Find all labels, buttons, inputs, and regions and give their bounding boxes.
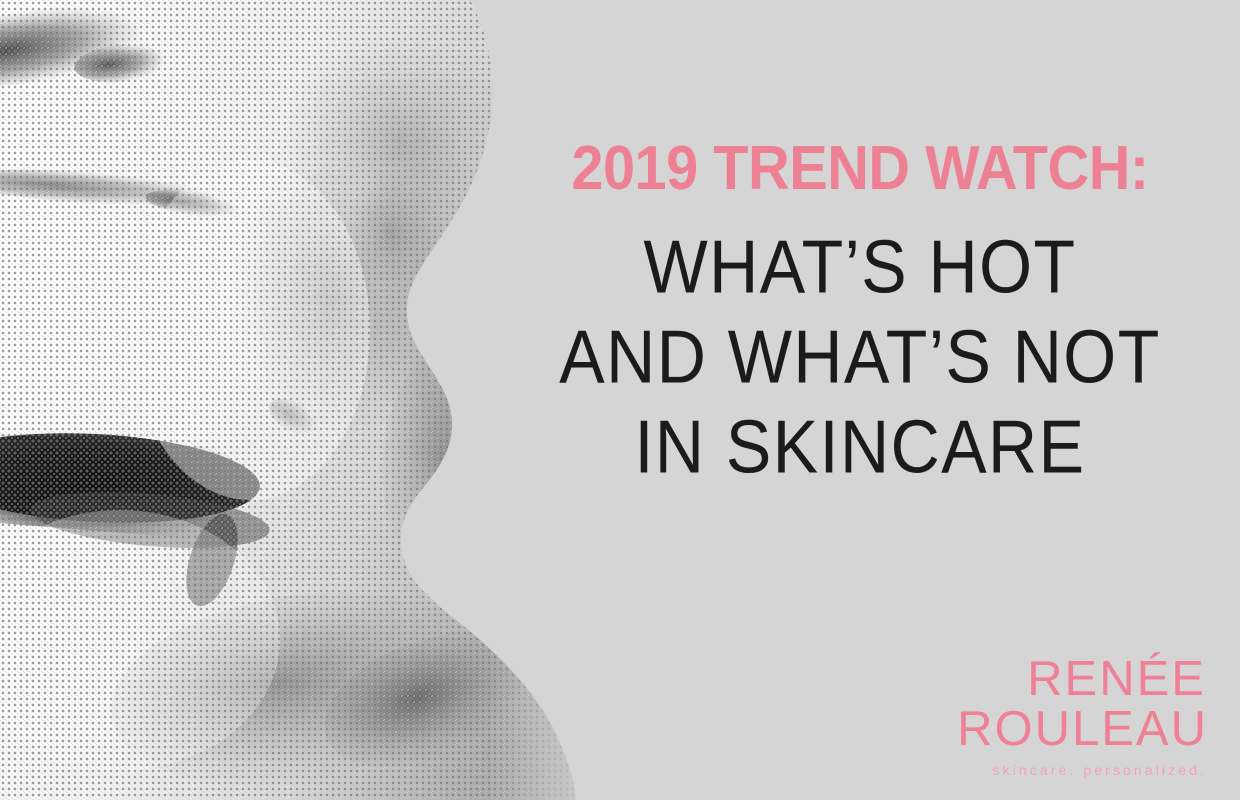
headline-line-3: IN SKINCARE [500, 409, 1220, 484]
brand-logo[interactable]: RENÉE ROULEAU skincare. personalized. [948, 656, 1208, 778]
logo-word-rouleau: ROULEAU [948, 706, 1208, 752]
headline-kicker: 2019 TREND WATCH: [525, 140, 1195, 199]
headline-block: 2019 TREND WATCH: WHAT’S HOT AND WHAT’S … [500, 140, 1220, 481]
logo-tagline: skincare. personalized. [948, 762, 1208, 778]
headline-line-2: AND WHAT’S NOT [500, 319, 1220, 394]
headline-line-1: WHAT’S HOT [500, 229, 1220, 304]
promo-banner: 2019 TREND WATCH: WHAT’S HOT AND WHAT’S … [0, 0, 1240, 800]
logo-word-renee: RENÉE [948, 656, 1208, 702]
